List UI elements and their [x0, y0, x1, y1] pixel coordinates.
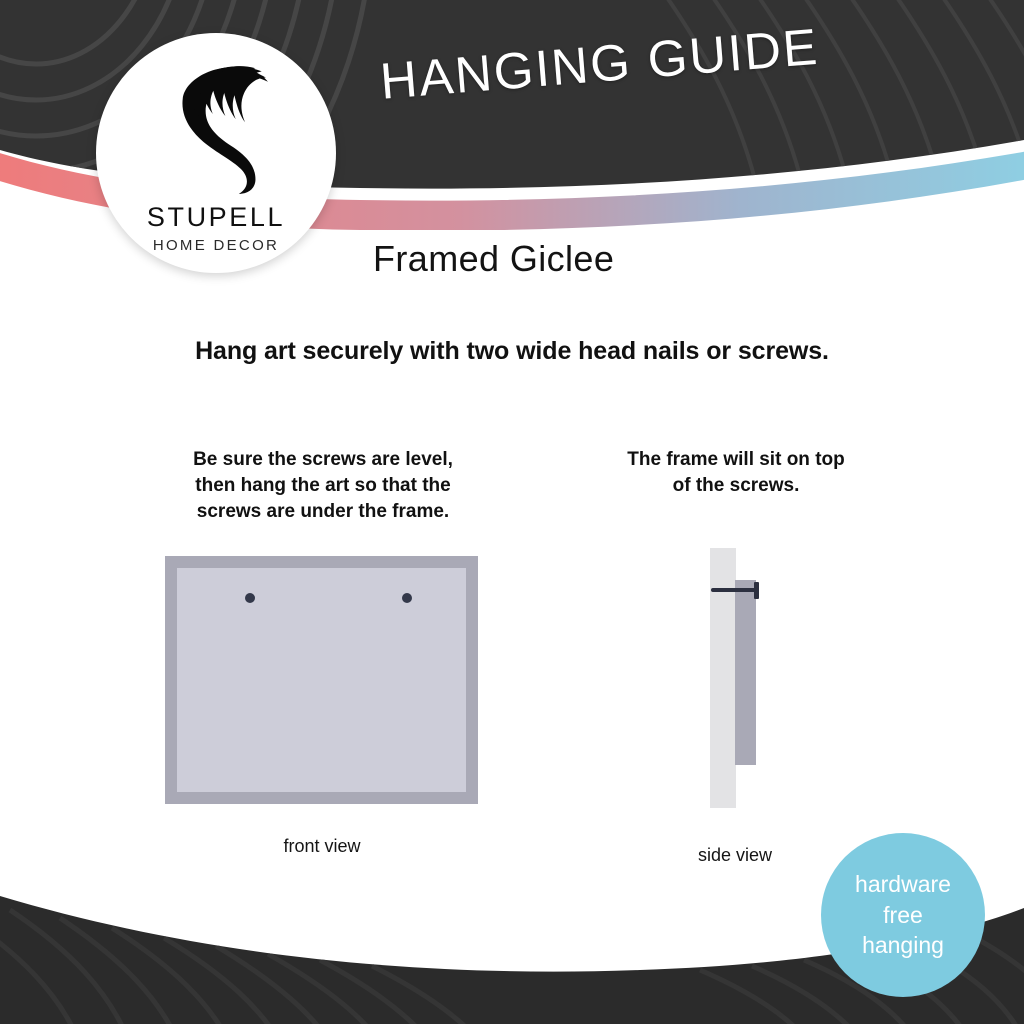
badge-line-2: free: [883, 900, 923, 931]
side-view-caption: The frame will sit on top of the screws.: [596, 447, 876, 499]
side-view-wall: [710, 548, 736, 808]
front-view-artwork-panel: [177, 568, 466, 792]
hanging-guide-page: HANGING GUIDE STUPELL HOME DECOR Framed …: [0, 0, 1024, 1024]
side-view-diagram: [710, 548, 790, 810]
front-view-diagram: [165, 556, 478, 804]
front-view-caption: Be sure the screws are level, then hang …: [143, 447, 503, 526]
badge-line-3: hanging: [862, 930, 944, 961]
front-view-caption-line2: then hang the art so that the: [143, 473, 503, 499]
brand-tagline: HOME DECOR: [153, 238, 279, 253]
nail-head-icon: [754, 582, 759, 599]
main-instruction-text: Hang art securely with two wide head nai…: [0, 337, 1024, 366]
side-view-label: side view: [655, 845, 815, 866]
badge-line-1: hardware: [855, 869, 951, 900]
brand-logo-badge: STUPELL HOME DECOR: [96, 33, 336, 273]
front-view-caption-line3: screws are under the frame.: [143, 499, 503, 525]
screw-dot-right-icon: [402, 593, 412, 603]
front-view-label: front view: [171, 836, 473, 857]
hardware-free-badge: hardware free hanging: [821, 833, 985, 997]
nail-shaft-icon: [711, 588, 757, 592]
brand-name: STUPELL: [147, 204, 285, 231]
side-view-caption-line1: The frame will sit on top: [596, 447, 876, 473]
product-type-label: Framed Giclee: [373, 238, 614, 280]
front-view-caption-line1: Be sure the screws are level,: [143, 447, 503, 473]
screw-dot-left-icon: [245, 593, 255, 603]
page-title: HANGING GUIDE: [378, 17, 821, 111]
side-view-caption-line2: of the screws.: [596, 473, 876, 499]
stupell-s-swoosh-logo-icon: [153, 61, 279, 196]
side-view-frame: [735, 580, 756, 765]
